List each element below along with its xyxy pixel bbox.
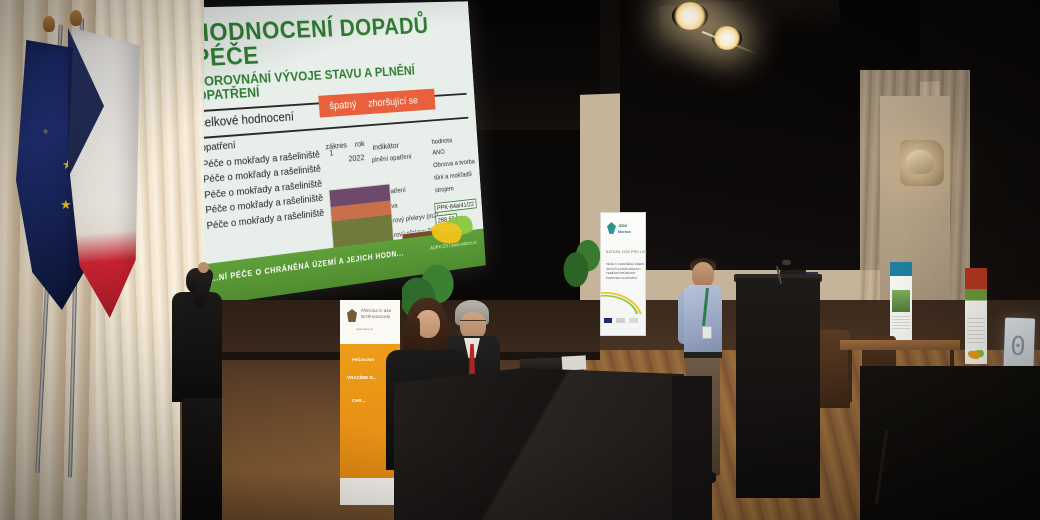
banner-yellow-line2: ŠETŘÍ HODOCENÍ [361,315,390,319]
star-icon: ★ [42,128,49,136]
photographer-legs [182,398,222,520]
flag-finial [70,10,82,26]
speaker-podium [736,278,820,498]
leaf-logo-icon [968,348,984,359]
banner-yellow-item3: CHR... [352,398,365,403]
banner-teal-text-block [892,316,910,330]
status-spatny: špatný [329,99,357,112]
star-icon: ★ [60,198,72,211]
photographer-hand [198,262,209,273]
stage-spotlight-icon [672,2,708,30]
potted-plant [560,236,600,292]
microphone-icon [782,260,791,265]
glasses-icon [460,320,486,326]
eu-logo-icon [604,318,612,323]
partner-logo-icon [629,318,638,323]
banner-yellow-url: www.nature.cz [356,328,373,331]
banner-body: PÉČE O CHRÁNĚNÁ ÚZEMÍ JIHOVÝCHODNÍ MORAV… [606,262,644,280]
foreground-lectern [394,368,684,520]
slide-col-hodnota: hodnota [431,136,452,147]
wooden-table [840,340,960,350]
slide-footer-text: ...NÍ PÉČE O CHRÁNĚNÁ ÚZEMÍ A JEJICH HOD… [210,249,404,283]
flag-finial [43,16,55,32]
foreground-equipment-right [860,366,1040,520]
banner-yellow-footer [340,478,400,505]
monitor-value: 0 [1010,332,1027,363]
banner-headline: NATURA 2000 PRO LIDI [606,250,647,254]
banner-yellow-header [340,300,400,344]
banner-food-text-block [967,318,985,344]
cell-zakres-1: 1 [329,148,334,158]
conference-hall-photo: HODNOCENÍ DOPADŮ PÉČE POROVNÁNÍ VÝVOJE S… [0,0,1040,520]
banner-yellow-item1: PRŮZKUMY [352,357,375,362]
cell-hodnota-1: ANO [432,147,445,158]
banner-logo-line2: Morava [618,230,631,234]
paper-sheet [562,355,587,370]
banner-yellow-line1: PŘÍRODA ČI NÁS [361,309,391,313]
table-leg [848,350,852,402]
name-badge [702,326,712,339]
banner-wave-graphic [601,292,643,314]
banner-yellow-item2: VRACÍME D... [347,375,377,380]
cell-hodnota-4: strojem [435,184,454,196]
partner-logo-icon [616,318,625,323]
status-zhorsujici: zhoršující se [368,95,418,109]
banner-teal-photo [892,290,910,312]
banner-logo-line1: JIŽNÍ [618,224,627,228]
wall-sconce-light [900,140,944,186]
foreground-panel [672,376,712,520]
cell-rok-1: 2022 [348,153,365,164]
photographer-body [172,292,222,402]
slide-title: HODNOCENÍ DOPADŮ PÉČE [191,14,464,71]
